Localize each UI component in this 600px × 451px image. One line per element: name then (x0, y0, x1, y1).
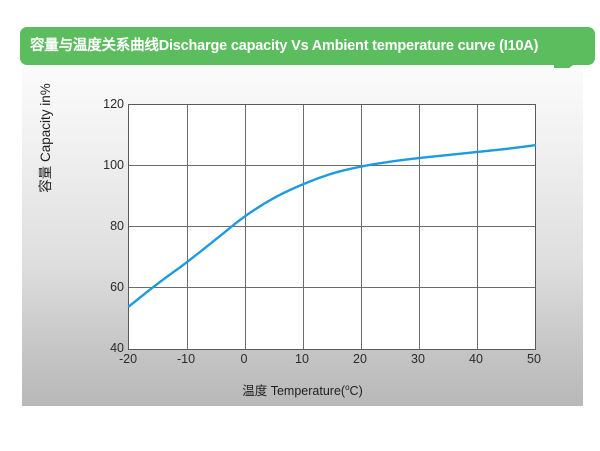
x-tick-label: 0 (221, 352, 267, 366)
y-axis-title: 容量 Capacity in% (34, 38, 54, 238)
x-axis-ticks: -20 -10 0 10 20 30 40 50 (128, 352, 534, 376)
x-axis-unit: C (350, 384, 359, 398)
x-tick-label: -10 (163, 352, 209, 366)
y-axis-title-text: 容量 Capacity in% (38, 83, 53, 193)
x-tick-label: 40 (453, 352, 499, 366)
capacity-temperature-curve (129, 105, 535, 349)
x-tick-label: 20 (337, 352, 383, 366)
y-tick-label: 100 (84, 158, 124, 172)
y-axis-ticks: 40 60 80 100 120 (74, 104, 124, 348)
x-axis-title-en: Temperature (271, 384, 341, 398)
x-tick-label: 30 (395, 352, 441, 366)
plot-area (128, 104, 536, 350)
x-tick-label: 10 (279, 352, 325, 366)
x-axis-unit-close: ) (359, 384, 363, 398)
x-tick-label: 50 (511, 352, 557, 366)
y-tick-label: 60 (84, 280, 124, 294)
x-tick-label: -20 (105, 352, 151, 366)
x-axis-title: 温度 Temperature(oC) (22, 380, 583, 399)
chart-panel: 容量 Capacity in% 40 60 80 100 120 -20 -10… (22, 68, 583, 406)
y-tick-label: 80 (84, 219, 124, 233)
x-axis-title-cn: 温度 (242, 384, 267, 398)
chart-title-text: 容量与温度关系曲线Discharge capacity Vs Ambient t… (30, 39, 538, 54)
chart-title-bubble: 容量与温度关系曲线Discharge capacity Vs Ambient t… (20, 27, 595, 65)
y-tick-label: 120 (84, 97, 124, 111)
